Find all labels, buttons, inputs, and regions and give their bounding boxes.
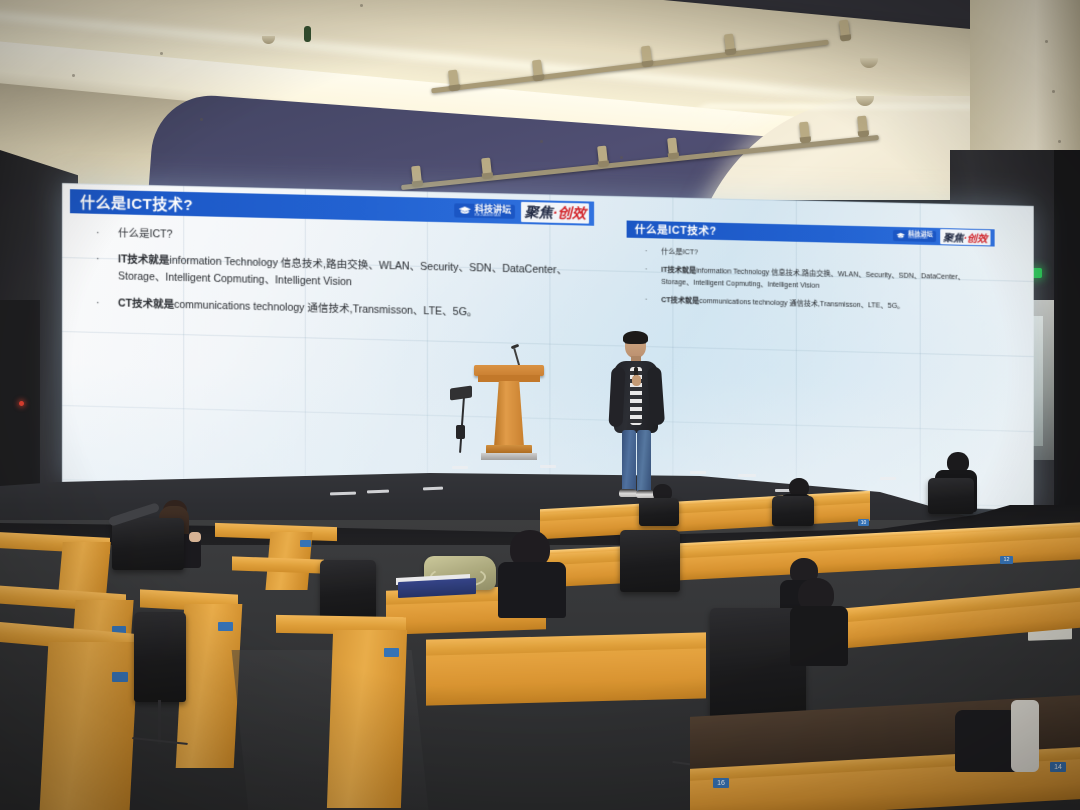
attendee-center-foreground xyxy=(498,530,564,610)
red-status-led xyxy=(19,401,24,406)
attendee-right-foreground xyxy=(790,578,846,664)
bullet-lead: IT技术就是 xyxy=(661,267,696,275)
graduation-cap-icon xyxy=(896,232,905,239)
graduation-cap-icon xyxy=(459,205,472,215)
seat-number-placard xyxy=(218,622,233,631)
stage-tape-mark xyxy=(880,477,896,480)
presenter-arm-right xyxy=(647,367,665,426)
bullet-text: 什么是ICT? xyxy=(118,226,172,243)
bullet-marker: · xyxy=(96,252,118,268)
bullet-text: 什么是ICT? xyxy=(661,248,698,259)
seat-number-placard: 12 xyxy=(1000,556,1013,564)
spotlight-icon xyxy=(839,20,850,38)
stage-tape-mark xyxy=(738,474,756,477)
seat-number-placard xyxy=(112,672,128,682)
attendee-torso xyxy=(790,606,848,666)
slide-logo-group: 科技讲坛 KEJIANGTAN 聚焦·创效 xyxy=(893,228,991,246)
bullet-lead: IT技术就是 xyxy=(118,254,169,267)
stage-tape-mark xyxy=(690,471,706,474)
brand-badge: 科技讲坛 KEJIANGTAN xyxy=(893,230,936,242)
slogan-dark: 聚焦 xyxy=(524,204,552,221)
stage-tape-mark xyxy=(452,466,468,469)
slide-main: 什么是ICT技术? 科技讲坛 KEJIANGTAN 聚焦·创效 xyxy=(70,189,594,323)
spotlight-icon xyxy=(597,146,608,164)
presenter xyxy=(608,333,664,503)
bullet-marker: · xyxy=(96,226,118,242)
slogan-logo: 聚焦·创效 xyxy=(940,229,991,245)
seat-number-placard: 14 xyxy=(1050,762,1066,772)
spotlight-icon xyxy=(532,60,543,78)
spotlight-icon xyxy=(857,116,868,134)
chair-stem xyxy=(158,700,161,744)
slide-title: 什么是ICT技术? xyxy=(635,222,717,239)
desk-front-panel xyxy=(426,648,706,705)
spotlight-icon xyxy=(667,138,678,156)
slide-bullet: · 什么是ICT? xyxy=(645,247,991,266)
bullet-lead: CT技术就是 xyxy=(118,297,174,310)
chair xyxy=(134,612,186,702)
podium-top-lip xyxy=(478,375,540,382)
spotlight-icon xyxy=(481,158,492,176)
slide-logo-group: 科技讲坛 KEJIANGTAN 聚焦·创效 xyxy=(455,200,589,223)
slogan-red: 创效 xyxy=(558,205,586,222)
slide-duplicate: 什么是ICT技术? 科技讲坛 KEJIANGTAN 聚焦·创效 xyxy=(627,221,995,316)
cable-box xyxy=(456,425,465,439)
chair xyxy=(772,496,814,526)
attendee-hands-phone xyxy=(189,532,201,542)
spotlight-icon xyxy=(641,46,652,64)
spotlight-icon xyxy=(724,34,735,52)
lecture-hall-scene: 什么是ICT技术? 科技讲坛 KEJIANGTAN 聚焦·创效 xyxy=(0,0,1080,810)
seat-number-placard: 10 xyxy=(858,519,869,526)
chair xyxy=(928,478,974,514)
chair xyxy=(320,560,376,620)
presenter-hand xyxy=(632,375,641,386)
seat-number-placard xyxy=(300,540,311,547)
slide-bullet: · 什么是ICT? xyxy=(96,226,588,253)
led-video-wall: 什么是ICT技术? 科技讲坛 KEJIANGTAN 聚焦·创效 xyxy=(62,183,1034,510)
bullet-marker: · xyxy=(645,265,661,276)
attendee-sleeve xyxy=(1011,700,1039,772)
bullet-marker: · xyxy=(645,296,661,307)
bullet-lead: CT技术就是 xyxy=(661,297,699,305)
attendee-torso xyxy=(498,562,566,618)
spotlight-icon xyxy=(799,122,810,140)
slide-title: 什么是ICT技术? xyxy=(80,191,193,215)
wooden-podium xyxy=(480,365,538,465)
bullet-marker: · xyxy=(96,296,118,312)
stage-tape-mark xyxy=(540,465,556,468)
bullet-marker: · xyxy=(645,247,661,258)
spotlight-icon xyxy=(448,70,459,88)
chair xyxy=(639,498,679,526)
brand-name-en: KEJIANGTAN xyxy=(475,214,511,218)
slogan-red: 创效 xyxy=(967,234,988,246)
podium-plinth xyxy=(481,453,537,460)
brand-badge: 科技讲坛 KEJIANGTAN xyxy=(455,203,516,219)
slogan-dark: 聚焦 xyxy=(943,233,964,245)
presenter-leg-left xyxy=(622,430,636,492)
brand-name-en: KEJIANGTAN xyxy=(908,238,933,241)
podium-column xyxy=(494,381,524,447)
spotlight-icon xyxy=(411,166,422,184)
ceiling xyxy=(0,0,1080,200)
presenter-leg-right xyxy=(637,430,651,492)
slide-body: · 什么是ICT? · IT技术就是information Technology… xyxy=(70,213,594,323)
smoke-detector-icon xyxy=(304,26,311,42)
chair xyxy=(620,530,680,592)
seat-number-placard xyxy=(384,648,399,657)
presenter-hair xyxy=(623,331,648,344)
seat-number-placard: 16 xyxy=(713,778,729,788)
attendee-bag-backpack xyxy=(955,710,1017,772)
slide-body: · 什么是ICT? · IT技术就是information Technology… xyxy=(627,238,995,315)
chair xyxy=(112,518,184,570)
attendee-bottom-right xyxy=(955,700,1035,770)
desk-side-panel xyxy=(40,642,139,810)
slogan-logo: 聚焦·创效 xyxy=(521,202,589,224)
